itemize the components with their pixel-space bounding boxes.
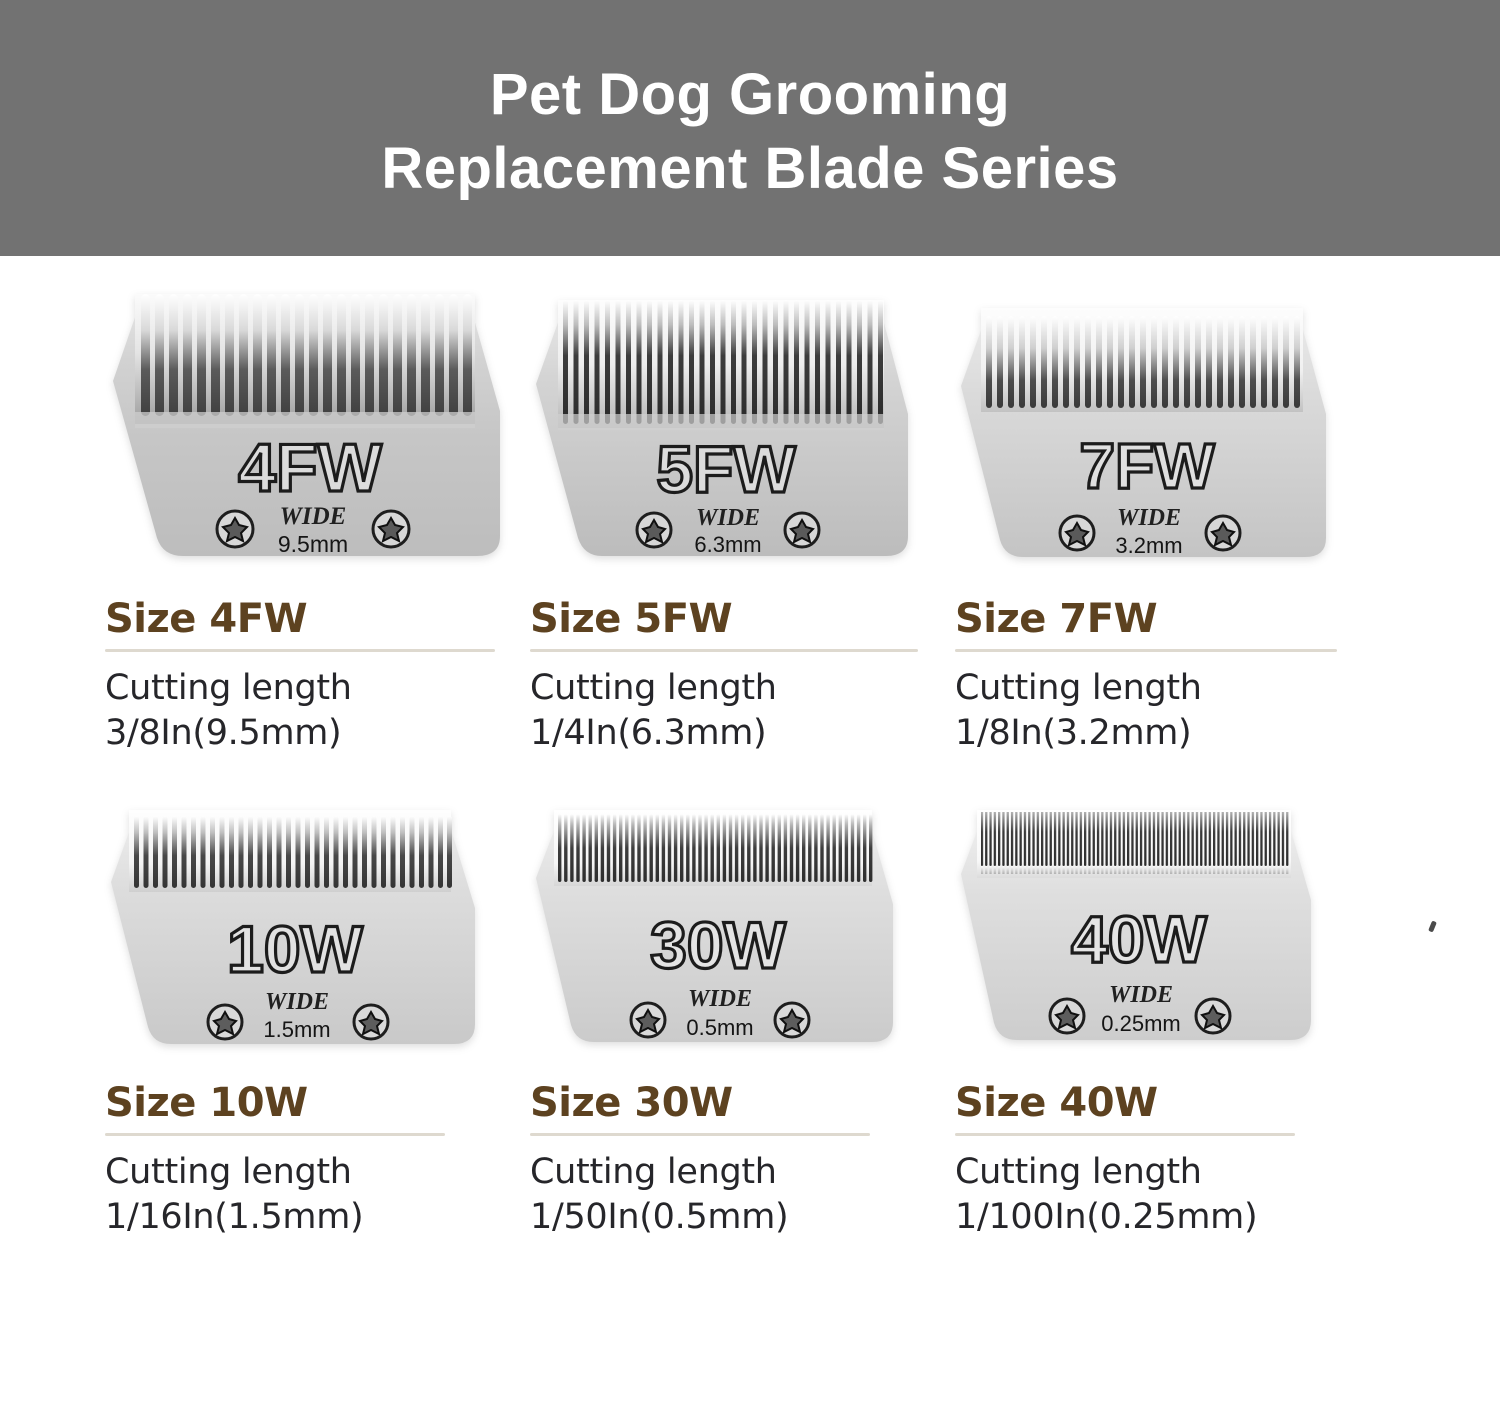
blade-image-30w: 30W WIDE 0.5mm <box>530 798 955 1066</box>
blade-svg-10w: 10W WIDE 1.5mm <box>105 804 480 1066</box>
title-divider <box>105 649 495 652</box>
blade-engraved-mm: 9.5mm <box>278 531 348 557</box>
blade-screw-right <box>1196 999 1230 1033</box>
blade-engraved-wide: WIDE <box>280 503 347 530</box>
page-title-line-2: Replacement Blade Series <box>381 132 1118 206</box>
cutting-length-value: 1/100In(0.25mm) <box>955 1195 1380 1240</box>
blade-svg-30w: 30W WIDE 0.5mm <box>530 804 898 1066</box>
blade-image-4fw: 4FW WIDE 9.5mm <box>105 282 530 582</box>
size-title: Size 4FW <box>105 596 530 642</box>
blade-engraved-size: 30W <box>650 908 786 982</box>
blade-screw-right <box>354 1005 388 1039</box>
title-divider <box>530 1133 870 1136</box>
blade-svg-40w: 40W WIDE 0.25mm <box>955 804 1315 1066</box>
size-title: Size 5FW <box>530 596 955 642</box>
blade-svg-5fw: 5FW WIDE 6.3mm <box>530 294 912 582</box>
cutting-length-label: Cutting length <box>955 666 1380 711</box>
blade-image-40w: 40W WIDE 0.25mm <box>955 798 1380 1066</box>
blade-engraved-mm: 0.25mm <box>1101 1011 1180 1036</box>
blade-card-7fw: 7FW WIDE 3.2mm Size 7FW Cutting leng <box>955 282 1380 756</box>
blade-engraved-wide: WIDE <box>265 989 329 1015</box>
cutting-length-label: Cutting length <box>105 666 530 711</box>
size-title: Size 30W <box>530 1080 955 1126</box>
cutting-length-value: 3/8In(9.5mm) <box>105 711 530 756</box>
size-title: Size 7FW <box>955 596 1380 642</box>
blade-row-top: 4FW WIDE 9.5mm Size 4FW Cutting leng <box>0 256 1500 756</box>
blade-screw-right <box>785 513 819 547</box>
blade-card-10w: 10W WIDE 1.5mm Size 10W Cutting leng <box>105 798 530 1240</box>
blade-engraved-size: 4FW <box>238 430 382 506</box>
blade-card-40w: 40W WIDE 0.25mm Size 40W Cutting len <box>955 798 1380 1240</box>
blade-screw-left <box>1050 999 1084 1033</box>
blade-screw-right <box>1206 516 1240 550</box>
cutting-length-value: 1/16In(1.5mm) <box>105 1195 530 1240</box>
blade-engraved-wide: WIDE <box>1117 505 1181 531</box>
title-divider <box>530 649 918 652</box>
blade-engraved-wide: WIDE <box>688 986 752 1012</box>
blade-engraved-size: 10W <box>227 912 363 986</box>
blade-screw-left <box>208 1005 242 1039</box>
size-title: Size 10W <box>105 1080 530 1126</box>
blade-engraved-mm: 0.5mm <box>686 1015 753 1040</box>
blade-screw-left <box>217 511 253 547</box>
cutting-length-value: 1/8In(3.2mm) <box>955 711 1380 756</box>
blade-svg-4fw: 4FW WIDE 9.5mm <box>105 286 505 582</box>
blade-label-7fw: Size 7FW Cutting length 1/8In(3.2mm) <box>955 582 1380 756</box>
blade-screw-right <box>373 511 409 547</box>
blade-engraved-mm: 6.3mm <box>694 532 761 557</box>
blade-engraved-mm: 1.5mm <box>263 1017 330 1042</box>
blade-image-7fw: 7FW WIDE 3.2mm <box>955 282 1380 582</box>
cutting-length-label: Cutting length <box>105 1150 530 1195</box>
blade-screw-left <box>637 513 671 547</box>
blade-card-4fw: 4FW WIDE 9.5mm Size 4FW Cutting leng <box>105 282 530 756</box>
blade-card-5fw: 5FW WIDE 6.3mm Size 5FW Cutting leng <box>530 282 955 756</box>
blade-image-10w: 10W WIDE 1.5mm <box>105 798 530 1066</box>
blade-label-40w: Size 40W Cutting length 1/100In(0.25mm) <box>955 1066 1380 1240</box>
blade-screw-right <box>775 1003 809 1037</box>
blade-engraved-size: 7FW <box>1079 430 1215 502</box>
blade-label-4fw: Size 4FW Cutting length 3/8In(9.5mm) <box>105 582 530 756</box>
title-divider <box>955 649 1337 652</box>
cutting-length-value: 1/50In(0.5mm) <box>530 1195 955 1240</box>
cutting-length-label: Cutting length <box>530 1150 955 1195</box>
cutting-length-value: 1/4In(6.3mm) <box>530 711 955 756</box>
blade-engraved-wide: WIDE <box>696 505 760 531</box>
cutting-length-label: Cutting length <box>530 666 955 711</box>
blade-row-bottom: 10W WIDE 1.5mm Size 10W Cutting leng <box>0 756 1500 1240</box>
cutting-length-label: Cutting length <box>955 1150 1380 1195</box>
blade-screw-left <box>1060 516 1094 550</box>
blade-engraved-wide: WIDE <box>1109 982 1173 1008</box>
blade-label-5fw: Size 5FW Cutting length 1/4In(6.3mm) <box>530 582 955 756</box>
blade-image-5fw: 5FW WIDE 6.3mm <box>530 282 955 582</box>
blade-label-30w: Size 30W Cutting length 1/50In(0.5mm) <box>530 1066 955 1240</box>
title-divider <box>105 1133 445 1136</box>
blade-engraved-size: 5FW <box>656 432 796 506</box>
blade-card-30w: 30W WIDE 0.5mm Size 30W Cutting leng <box>530 798 955 1240</box>
page-title-line-1: Pet Dog Grooming <box>490 58 1010 132</box>
blade-label-10w: Size 10W Cutting length 1/16In(1.5mm) <box>105 1066 530 1240</box>
blade-engraved-mm: 3.2mm <box>1115 533 1182 558</box>
blade-grid: 4FW WIDE 9.5mm Size 4FW Cutting leng <box>0 256 1500 1240</box>
size-title: Size 40W <box>955 1080 1380 1126</box>
blade-engraved-size: 40W <box>1071 902 1207 976</box>
title-divider <box>955 1133 1295 1136</box>
blade-screw-left <box>631 1003 665 1037</box>
page-header: Pet Dog Grooming Replacement Blade Serie… <box>0 0 1500 256</box>
blade-svg-7fw: 7FW WIDE 3.2mm <box>955 302 1330 582</box>
